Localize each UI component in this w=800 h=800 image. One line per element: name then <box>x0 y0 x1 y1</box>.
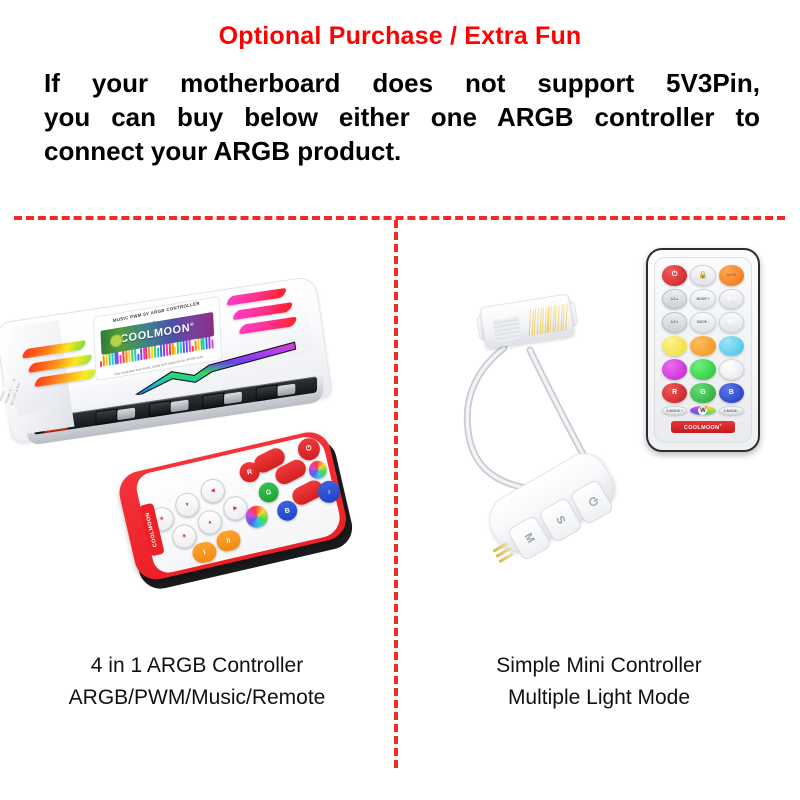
mini-button-m-label: M <box>522 531 537 545</box>
product-info-graphic: Optional Purchase / Extra Fun If your mo… <box>0 0 800 800</box>
mini-remote-key-white-wheel[interactable]: W <box>690 406 715 415</box>
mini-remote-key-smode-up-label: S-MODE + <box>666 409 683 413</box>
mini-remote-key-auto[interactable]: AUTO <box>719 265 744 286</box>
mini-remote-key-smode-down[interactable]: S-MODE - <box>719 406 744 415</box>
mini-remote-key-speed-up[interactable]: 1/2▲ <box>662 289 687 310</box>
hub-port-cap-1 <box>117 408 135 421</box>
smiley-icon <box>110 333 123 348</box>
mini-remote-key-lock[interactable]: 🔒 <box>690 265 715 286</box>
mini-remote-key-color-white[interactable] <box>719 359 744 380</box>
mini-remote-key-color-cyan[interactable] <box>719 336 744 357</box>
caption-left-line-2: ARGB/PWM/Music/Remote <box>0 682 394 714</box>
remote-key-music[interactable]: ♪ <box>316 479 342 505</box>
mini-remote-key-bright-down-label: ☀- <box>727 318 736 326</box>
mini-inline-controller: M S ⏻ <box>469 425 643 595</box>
panel-mini-controller: M S ⏻ ⏻🔒AUTO1/2▲MODE +☀+1/2▼MODE -☀-RGBS… <box>398 220 800 780</box>
sata-contact-pins <box>529 304 568 336</box>
mini-remote-key-color-magenta[interactable] <box>662 359 687 380</box>
mini-remote-key-color-red-label: R <box>672 389 677 396</box>
mini-remote-keypad: ⏻🔒AUTO1/2▲MODE +☀+1/2▼MODE -☀-RGBS-MODE … <box>662 265 744 415</box>
mini-remote-face: ⏻🔒AUTO1/2▲MODE +☀+1/2▼MODE -☀-RGBS-MODE … <box>654 257 752 443</box>
remote-key-power[interactable]: ⏻ <box>296 436 322 462</box>
intro-line-3: connect your ARGB product. <box>44 134 760 168</box>
mini-remote-brand-text: COOLMOON <box>684 425 720 431</box>
mini-remote-brand-mark: ® <box>719 423 722 427</box>
mini-remote-key-color-orange[interactable] <box>690 336 715 357</box>
panel-4in1-controller: Reset Power 4 - - - 9 5V 12V 4-Pin <box>0 220 394 780</box>
mini-remote-key-mode-down[interactable]: MODE - <box>690 312 715 333</box>
mini-remote-key-lock-label: 🔒 <box>699 271 708 279</box>
caption-left: 4 in 1 ARGB Controller ARGB/PWM/Music/Re… <box>0 650 394 714</box>
mini-remote-key-speed-down-label: 1/2▼ <box>671 320 679 324</box>
product-image-4in1: Reset Power 4 - - - 9 5V 12V 4-Pin <box>0 220 394 640</box>
mini-remote-key-bright-down[interactable]: ☀- <box>719 312 744 333</box>
mini-remote-key-auto-label: AUTO <box>727 273 737 277</box>
hub-port-cap-4 <box>277 384 295 397</box>
mini-remote-key-bright-up-label: ☀+ <box>726 295 736 303</box>
hub-brand-mark: ® <box>190 322 195 329</box>
caption-left-line-1: 4 in 1 ARGB Controller <box>0 650 394 682</box>
mini-remote-key-color-green-g[interactable]: G <box>690 383 715 404</box>
remote-key-green[interactable]: G <box>257 480 281 504</box>
sata-body <box>479 293 574 349</box>
mini-remote-key-color-green-g-label: G <box>700 389 705 396</box>
hub-port-cap-3 <box>224 392 242 405</box>
mini-remote-key-color-yellow[interactable] <box>662 336 687 357</box>
caption-right-line-1: Simple Mini Controller <box>398 650 800 682</box>
mini-controller-body: M S ⏻ <box>480 445 622 560</box>
mini-remote-key-mode-up-label: MODE + <box>696 297 709 301</box>
mini-remote-key-mode-down-label: MODE - <box>697 320 709 324</box>
mini-remote-key-color-blue-b[interactable]: B <box>719 383 744 404</box>
argb-3pin-connector <box>493 542 518 569</box>
mini-remote-key-smode-up[interactable]: S-MODE + <box>662 406 687 415</box>
intro-line-2: you can buy below either one ARGB contro… <box>44 100 760 134</box>
remote-key-mode-minus[interactable]: I <box>191 540 219 565</box>
sata-power-connector <box>478 287 577 353</box>
mini-remote-key-speed-up-label: 1/2▲ <box>671 297 679 301</box>
product-image-mini: M S ⏻ ⏻🔒AUTO1/2▲MODE +☀+1/2▼MODE -☀-RGBS… <box>398 220 800 640</box>
mini-remote-key-color-red[interactable]: R <box>662 383 687 404</box>
page-title: Optional Purchase / Extra Fun <box>0 22 800 51</box>
mini-remote-key-color-green[interactable] <box>690 359 715 380</box>
mini-remote-key-white-wheel-label: W <box>698 406 707 415</box>
mini-remote-key-power-label: ⏻ <box>672 271 678 279</box>
remote-key-rgb-cycle[interactable] <box>307 459 329 481</box>
mini-remote-key-power[interactable]: ⏻ <box>662 265 687 286</box>
caption-right: Simple Mini Controller Multiple Light Mo… <box>398 650 800 714</box>
remote-key-mode-plus[interactable]: II <box>215 528 243 553</box>
mini-remote-device: ⏻🔒AUTO1/2▲MODE +☀+1/2▼MODE -☀-RGBS-MODE … <box>646 248 760 452</box>
hub-port-cap-2 <box>171 400 189 413</box>
mini-remote-key-speed-down[interactable]: 1/2▼ <box>662 312 687 333</box>
mini-button-power-label: ⏻ <box>584 495 600 509</box>
mini-remote-key-smode-down-label: S-MODE - <box>724 409 740 413</box>
intro-line-1: If your motherboard does not support 5V3… <box>44 66 760 100</box>
sata-groove <box>493 316 522 342</box>
mini-remote-brand-badge: COOLMOON® <box>671 421 735 433</box>
intro-paragraph: If your motherboard does not support 5V3… <box>44 66 760 168</box>
caption-right-line-2: Multiple Light Mode <box>398 682 800 714</box>
mini-button-s-label: S <box>554 514 568 526</box>
mini-remote-key-bright-up[interactable]: ☀+ <box>719 289 744 310</box>
mini-remote-key-color-blue-b-label: B <box>729 389 734 396</box>
mini-remote-key-mode-up[interactable]: MODE + <box>690 289 715 310</box>
